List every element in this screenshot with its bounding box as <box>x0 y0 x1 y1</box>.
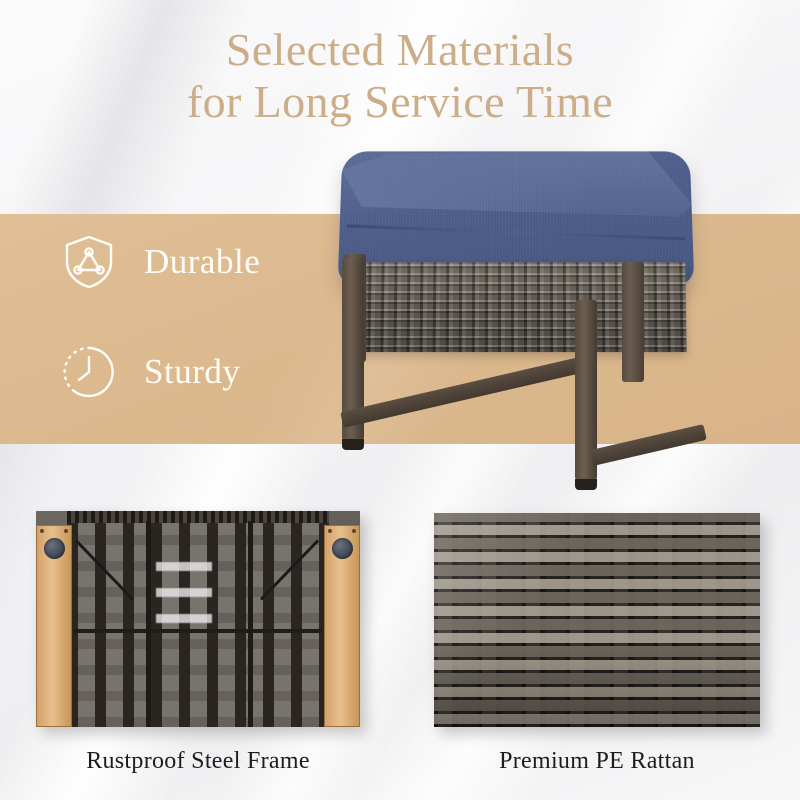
corner-dot <box>352 529 356 533</box>
title-line-2: for Long Service Time <box>0 76 800 128</box>
feature-label: Sturdy <box>144 352 240 392</box>
bolt-cap-icon <box>332 538 353 559</box>
leg-rail <box>340 356 587 428</box>
product-image-ottoman <box>322 150 712 495</box>
page-title: Selected Materials for Long Service Time <box>0 24 800 127</box>
steel-side-post-left <box>36 525 72 727</box>
detail-panel-pe-rattan <box>434 513 760 727</box>
title-line-1: Selected Materials <box>0 24 800 76</box>
rattan-sheen-overlay <box>434 513 760 727</box>
grid-vertical-rail <box>248 521 253 727</box>
grid-highlight-reflection <box>156 553 212 623</box>
shield-icon <box>62 234 116 290</box>
feature-durable: Durable <box>62 234 260 290</box>
grid-middle-rail <box>74 629 322 633</box>
leg-foot <box>575 479 597 490</box>
grid-vertical-rail <box>146 521 151 727</box>
grid-top-bar <box>67 511 329 523</box>
detail-panel-steel-frame <box>36 511 360 727</box>
caption-pe-rattan: Premium PE Rattan <box>432 748 762 775</box>
leg-foot <box>342 439 364 450</box>
feature-label: Durable <box>144 242 260 282</box>
corner-dot <box>64 529 68 533</box>
bolt-cap-icon <box>44 538 65 559</box>
caption-steel-frame: Rustproof Steel Frame <box>33 748 363 775</box>
steel-side-post-right <box>324 525 360 727</box>
leg-rail <box>590 424 707 466</box>
corner-dot <box>40 529 44 533</box>
clock-icon <box>62 344 116 400</box>
corner-dot <box>328 529 332 533</box>
feature-sturdy: Sturdy <box>62 344 240 400</box>
frame-post-right <box>622 262 644 382</box>
